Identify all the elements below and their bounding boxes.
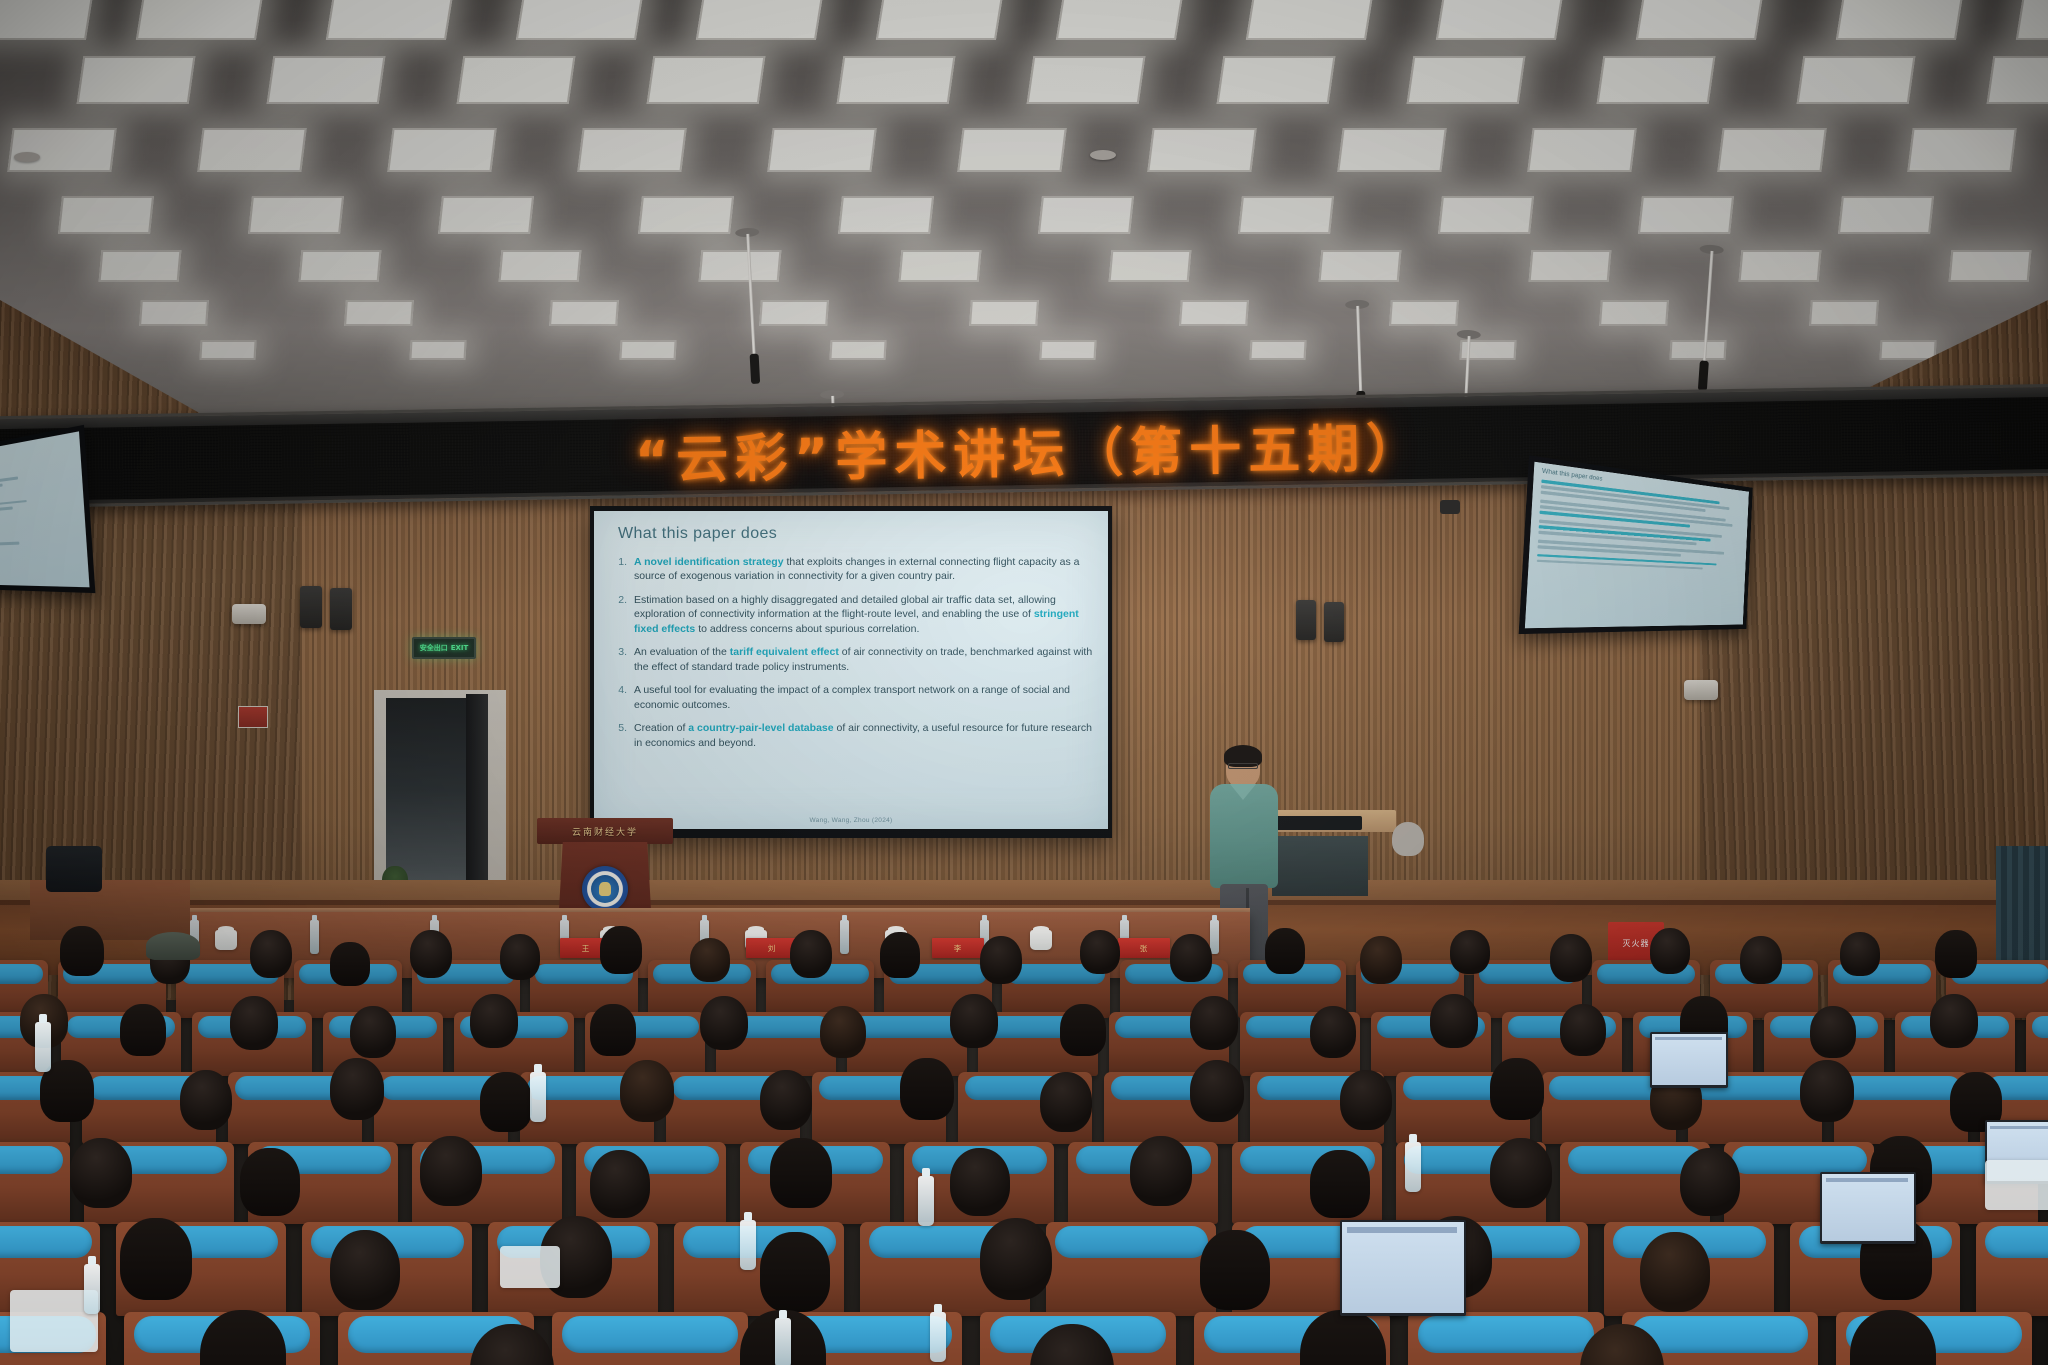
ceiling-light-panel — [619, 340, 676, 360]
ceiling-light-panel — [1109, 250, 1192, 282]
audience-member-head — [600, 926, 642, 974]
audience-member-head — [980, 1218, 1052, 1300]
ceiling-light-panel — [838, 196, 934, 234]
audience-member-head — [500, 934, 540, 980]
audience-member-head — [1800, 1060, 1854, 1122]
name-placard: 张 — [1118, 938, 1170, 958]
audience-member-head — [410, 930, 452, 978]
ceiling-light-panel — [99, 250, 182, 282]
ceiling-light-panel — [767, 128, 876, 172]
mic-capsule — [749, 354, 760, 384]
audience-member-head — [900, 1058, 954, 1120]
ceiling-light-panel — [409, 340, 466, 360]
slide-plain-text: Creation of — [634, 722, 688, 734]
audience-member-head — [1810, 1006, 1856, 1058]
ceiling-light-panel — [696, 0, 824, 40]
audience-member-head — [590, 1004, 636, 1056]
audience-member-head — [1680, 1148, 1740, 1216]
ceiling-light-panel — [829, 340, 886, 360]
auditorium-seat — [2026, 1012, 2048, 1076]
ceiling-light-panel — [1987, 56, 2048, 104]
slide-bullet-text: A useful tool for evaluating the impact … — [634, 683, 1094, 712]
audience-member-head — [120, 1004, 166, 1056]
ceiling-light-panel — [1809, 300, 1879, 326]
audience-water-bottle — [740, 1220, 756, 1270]
ceiling-light-panel — [1529, 250, 1612, 282]
right-monitor-slide: What this paper does — [1525, 462, 1749, 629]
ceiling-light-panel — [1147, 128, 1256, 172]
ceiling-light-panel — [876, 0, 1004, 40]
ceiling-light-panel — [1527, 128, 1636, 172]
ceiling-light-panel — [969, 300, 1039, 326]
auditorium-seat — [1408, 1312, 1604, 1365]
slide-plain-text: Estimation based on a highly disaggregat… — [634, 594, 1056, 620]
ceiling-light-panel — [759, 300, 829, 326]
wall-speaker — [330, 588, 352, 630]
audience-water-bottle — [775, 1318, 791, 1365]
emergency-exit-sign: 安全出口 EXIT — [412, 637, 476, 659]
ceiling-light-panel — [438, 196, 534, 234]
slide-bullet-text: Estimation based on a highly disaggregat… — [634, 593, 1094, 636]
audience-member-head — [180, 1070, 232, 1130]
audience-member-head — [880, 932, 920, 978]
audience-member-head — [330, 942, 370, 986]
plastic-bag — [1985, 1160, 2048, 1210]
audience-member-head — [470, 994, 518, 1048]
audience-member-head — [350, 1006, 396, 1058]
slide-bullet-number: 3. — [616, 645, 627, 674]
ceiling-light-panel — [899, 250, 982, 282]
placard-text: 刘 — [768, 943, 777, 954]
side-chair — [46, 846, 102, 892]
wall-emergency-lamp — [1684, 680, 1718, 700]
emblem-center-glyph — [599, 882, 611, 896]
laptop-screen — [1822, 1174, 1914, 1241]
monitor-text-line — [0, 542, 19, 547]
audience-member-head — [1310, 1150, 1370, 1218]
ceiling-light-panel — [1438, 196, 1534, 234]
baseball-cap — [146, 932, 200, 960]
ceiling-light-panel — [199, 340, 256, 360]
ceiling-light-panel — [516, 0, 644, 40]
slide-bullet: 4.A useful tool for evaluating the impac… — [616, 683, 1094, 712]
ceiling-light-panel — [1879, 340, 1936, 360]
projection-screen: What this paper does 1.A novel identific… — [590, 506, 1112, 838]
right-side-monitor: What this paper does — [1519, 455, 1753, 634]
slide-bullet: 5.Creation of a country-pair-level datab… — [616, 721, 1094, 750]
monitor-text-line — [0, 506, 13, 514]
mic-rod — [1702, 251, 1713, 361]
slide-bullet-text: A novel identification strategy that exp… — [634, 555, 1094, 584]
ceiling-light-panel — [1217, 56, 1336, 104]
window-curtain — [1996, 846, 2048, 966]
slide-bullet: 3.An evaluation of the tariff equivalent… — [616, 645, 1094, 674]
audience-member-head — [70, 1138, 132, 1208]
open-laptop[interactable] — [1650, 1032, 1728, 1088]
audience-member-head — [690, 938, 730, 982]
plastic-bag — [500, 1246, 560, 1288]
slide-highlight-phrase: a country-pair-level database — [688, 722, 833, 734]
audience-member-head — [1640, 1232, 1710, 1312]
slide-bullet-number: 4. — [616, 683, 627, 712]
ceiling-light-panel — [326, 0, 454, 40]
auditorium-seat — [1046, 1222, 1216, 1316]
auditorium-seat — [0, 1142, 70, 1224]
audience-member-head — [1740, 936, 1782, 984]
ceiling-light-panel — [248, 196, 344, 234]
ceiling-light-panel — [1039, 340, 1096, 360]
ceiling-light-panel — [7, 128, 116, 172]
audience-member-head — [790, 930, 832, 978]
ceiling-light-panel — [1638, 196, 1734, 234]
exit-sign-chinese: 安全出口 — [420, 643, 448, 653]
audience-member-head — [1935, 930, 1977, 978]
audience-member-head — [420, 1136, 482, 1206]
lectern-university-name: 云南财经大学 — [572, 825, 638, 838]
presenter-shirt — [1210, 784, 1278, 888]
ceiling-light-panel — [0, 0, 94, 40]
ceiling-light-panel — [577, 128, 686, 172]
audience-member-head — [980, 936, 1022, 984]
audience-member-head — [620, 1060, 674, 1122]
slide-bullet-number: 5. — [616, 721, 627, 750]
water-bottle — [840, 920, 849, 954]
audience-member-head — [480, 1072, 532, 1132]
ceiling-light-panel — [1836, 0, 1964, 40]
audience-member-head — [1550, 934, 1592, 982]
slide-bullet-text: An evaluation of the tariff equivalent e… — [634, 645, 1094, 674]
slide-bullet: 1.A novel identification strategy that e… — [616, 555, 1094, 584]
ceiling-light-panel — [957, 128, 1066, 172]
lectern-top: 云南财经大学 — [537, 818, 673, 844]
ceiling-light-panel — [2016, 0, 2048, 40]
audience-member-head — [1310, 1006, 1356, 1058]
monitor-text-line — [0, 484, 3, 493]
laptop-screen — [1342, 1222, 1464, 1313]
smoke-detector-icon — [1090, 150, 1116, 160]
slide-title: What this paper does — [618, 525, 1094, 543]
lecture-hall-photo: “云彩”学术讲坛（第十五期） What this paper does 1.A … — [0, 0, 2048, 1365]
audience-member-head — [1490, 1138, 1552, 1208]
slide-bullet: 2.Estimation based on a highly disaggreg… — [616, 593, 1094, 636]
podium-equipment — [1276, 816, 1362, 830]
audience-member-head — [1360, 936, 1402, 984]
audience-area — [0, 960, 2048, 1365]
audience-member-head — [1190, 996, 1238, 1050]
ceiling-light-panel — [1436, 0, 1564, 40]
slide-bullet-number: 1. — [616, 555, 627, 584]
audience-member-head — [1200, 1230, 1270, 1310]
ceiling-light-panel — [457, 56, 576, 104]
ceiling-light-panel — [197, 128, 306, 172]
led-banner-text: “云彩”学术讲坛（第十五期） — [634, 405, 1425, 492]
ceiling-light-panel — [647, 56, 766, 104]
audience-member-head — [1060, 1004, 1106, 1056]
audience-member-head — [1490, 1058, 1544, 1120]
audience-member-head — [120, 1218, 192, 1300]
audience-member-head — [1130, 1136, 1192, 1206]
audience-member-head — [1650, 928, 1690, 974]
audience-member-head — [1450, 930, 1490, 974]
left-side-monitor — [0, 425, 95, 593]
left-monitor-slide — [0, 431, 90, 587]
audience-member-head — [1560, 1004, 1606, 1056]
audience-member-head — [590, 1150, 650, 1218]
ceiling-light-panel — [1797, 56, 1916, 104]
ceiling-light-panel — [1038, 196, 1134, 234]
ceiling-light-panel — [837, 56, 956, 104]
audience-member-head — [1080, 930, 1120, 974]
tea-cup — [215, 930, 237, 950]
tea-cup — [1030, 930, 1052, 950]
mic-capsule — [1697, 360, 1708, 391]
placard-text: 张 — [1140, 943, 1149, 954]
mic-rod — [1356, 306, 1362, 391]
ceiling-light-panel — [1238, 196, 1334, 234]
ceiling-light-panel — [1027, 56, 1146, 104]
audience-member-head — [700, 996, 748, 1050]
placard-text: 王 — [582, 943, 591, 954]
open-laptop[interactable] — [1340, 1220, 1466, 1316]
audience-water-bottle — [930, 1312, 946, 1362]
ceiling-light-panel — [1739, 250, 1822, 282]
name-placard: 李 — [932, 938, 984, 958]
ceiling-light-panel — [1319, 250, 1402, 282]
audience-member-head — [950, 994, 998, 1048]
audience-member-head — [820, 1006, 866, 1058]
ceiling-light-panel — [1597, 56, 1716, 104]
ceiling-light-panel — [1179, 300, 1249, 326]
audience-member-head — [760, 1070, 812, 1130]
ceiling-light-panel — [387, 128, 496, 172]
ceiling-light-panel — [344, 300, 414, 326]
laptop-screen — [1652, 1034, 1726, 1085]
ceiling-light-panel — [1949, 250, 2032, 282]
audience-member-head — [240, 1148, 300, 1216]
audience-water-bottle — [84, 1264, 100, 1314]
audience-member-head — [1265, 928, 1305, 974]
slide-bullet-text: Creation of a country-pair-level databas… — [634, 721, 1094, 750]
audience-member-head — [770, 1138, 832, 1208]
audience-water-bottle — [530, 1072, 546, 1122]
mic-rod — [746, 234, 755, 354]
ceiling-light-panel — [1389, 300, 1459, 326]
placard-text: 李 — [954, 943, 963, 954]
audience-member-head — [230, 996, 278, 1050]
ceiling-light-panel — [1599, 300, 1669, 326]
seated-attendee-head — [1392, 822, 1424, 856]
slide-plain-text: A useful tool for evaluating the impact … — [634, 684, 1070, 710]
smoke-detector-icon — [14, 152, 40, 162]
slide-plain-text: to address concerns about spurious corre… — [695, 623, 919, 635]
audience-member-head — [760, 1232, 830, 1312]
ceiling-light-panel — [299, 250, 382, 282]
slide-highlight-phrase: A novel identification strategy — [634, 556, 784, 568]
ceiling-light-panel — [139, 300, 209, 326]
ceiling-light-panel — [1838, 196, 1934, 234]
open-laptop[interactable] — [1820, 1172, 1916, 1244]
ceiling-light-panel — [1249, 340, 1306, 360]
ceiling-light-panel — [267, 56, 386, 104]
auditorium-seat — [552, 1312, 748, 1365]
ceiling-light-panel — [136, 0, 264, 40]
audience-member-head — [330, 1230, 400, 1310]
audience-member-head — [1340, 1070, 1392, 1130]
ceiling-light-panel — [1407, 56, 1526, 104]
audience-member-head — [1430, 994, 1478, 1048]
audience-member-head — [1190, 1060, 1244, 1122]
audience-water-bottle — [918, 1176, 934, 1226]
slide-plain-text: An evaluation of the — [634, 646, 730, 658]
slide-highlight-phrase: tariff equivalent effect — [730, 646, 839, 658]
water-bottle — [310, 920, 319, 954]
ceiling-light-panel — [1056, 0, 1184, 40]
ceiling-light-panel — [1246, 0, 1374, 40]
wall-poster — [238, 706, 268, 728]
audience-member-head — [1840, 932, 1880, 976]
audience-member-head — [950, 1148, 1010, 1216]
podium-control-panel — [1272, 836, 1368, 896]
presenter-glasses-icon — [1228, 763, 1258, 769]
water-bottle — [1210, 920, 1219, 954]
slide-bullet-number: 2. — [616, 593, 627, 636]
audience-water-bottle — [35, 1022, 51, 1072]
audience-water-bottle — [1405, 1142, 1421, 1192]
ceiling-light-panel — [1337, 128, 1446, 172]
ceiling-camera-icon — [1440, 500, 1460, 514]
ceiling-light-panel — [549, 300, 619, 326]
audience-member-head — [330, 1058, 384, 1120]
ceiling-light-panel — [1907, 128, 2016, 172]
presentation-slide: What this paper does 1.A novel identific… — [594, 511, 1108, 829]
monitor-text-line — [0, 476, 18, 488]
auditorium-seat — [1834, 1072, 1968, 1144]
slide-bullet-list: 1.A novel identification strategy that e… — [616, 555, 1094, 750]
ceiling-light-panel — [1636, 0, 1764, 40]
audience-member-head — [1040, 1072, 1092, 1132]
wall-speaker — [300, 586, 322, 628]
fire-box-label: 灭火器 — [1623, 938, 1650, 949]
ceiling-light-panel — [1717, 128, 1826, 172]
wall-speaker — [1324, 602, 1344, 642]
ceiling-light-panel — [77, 56, 196, 104]
wall-speaker — [1296, 600, 1316, 640]
exit-sign-english: EXIT — [451, 644, 469, 652]
audience-member-head — [1170, 934, 1212, 982]
audience-member-head — [1930, 994, 1978, 1048]
audience-member-head — [250, 930, 292, 978]
ceiling-light-panel — [58, 196, 154, 234]
audience-member-head — [60, 926, 104, 976]
ceiling-light-panel — [638, 196, 734, 234]
auditorium-seat — [1976, 1222, 2048, 1316]
wall-emergency-lamp — [232, 604, 266, 624]
ceiling-light-panel — [499, 250, 582, 282]
university-emblem-icon — [582, 866, 628, 912]
